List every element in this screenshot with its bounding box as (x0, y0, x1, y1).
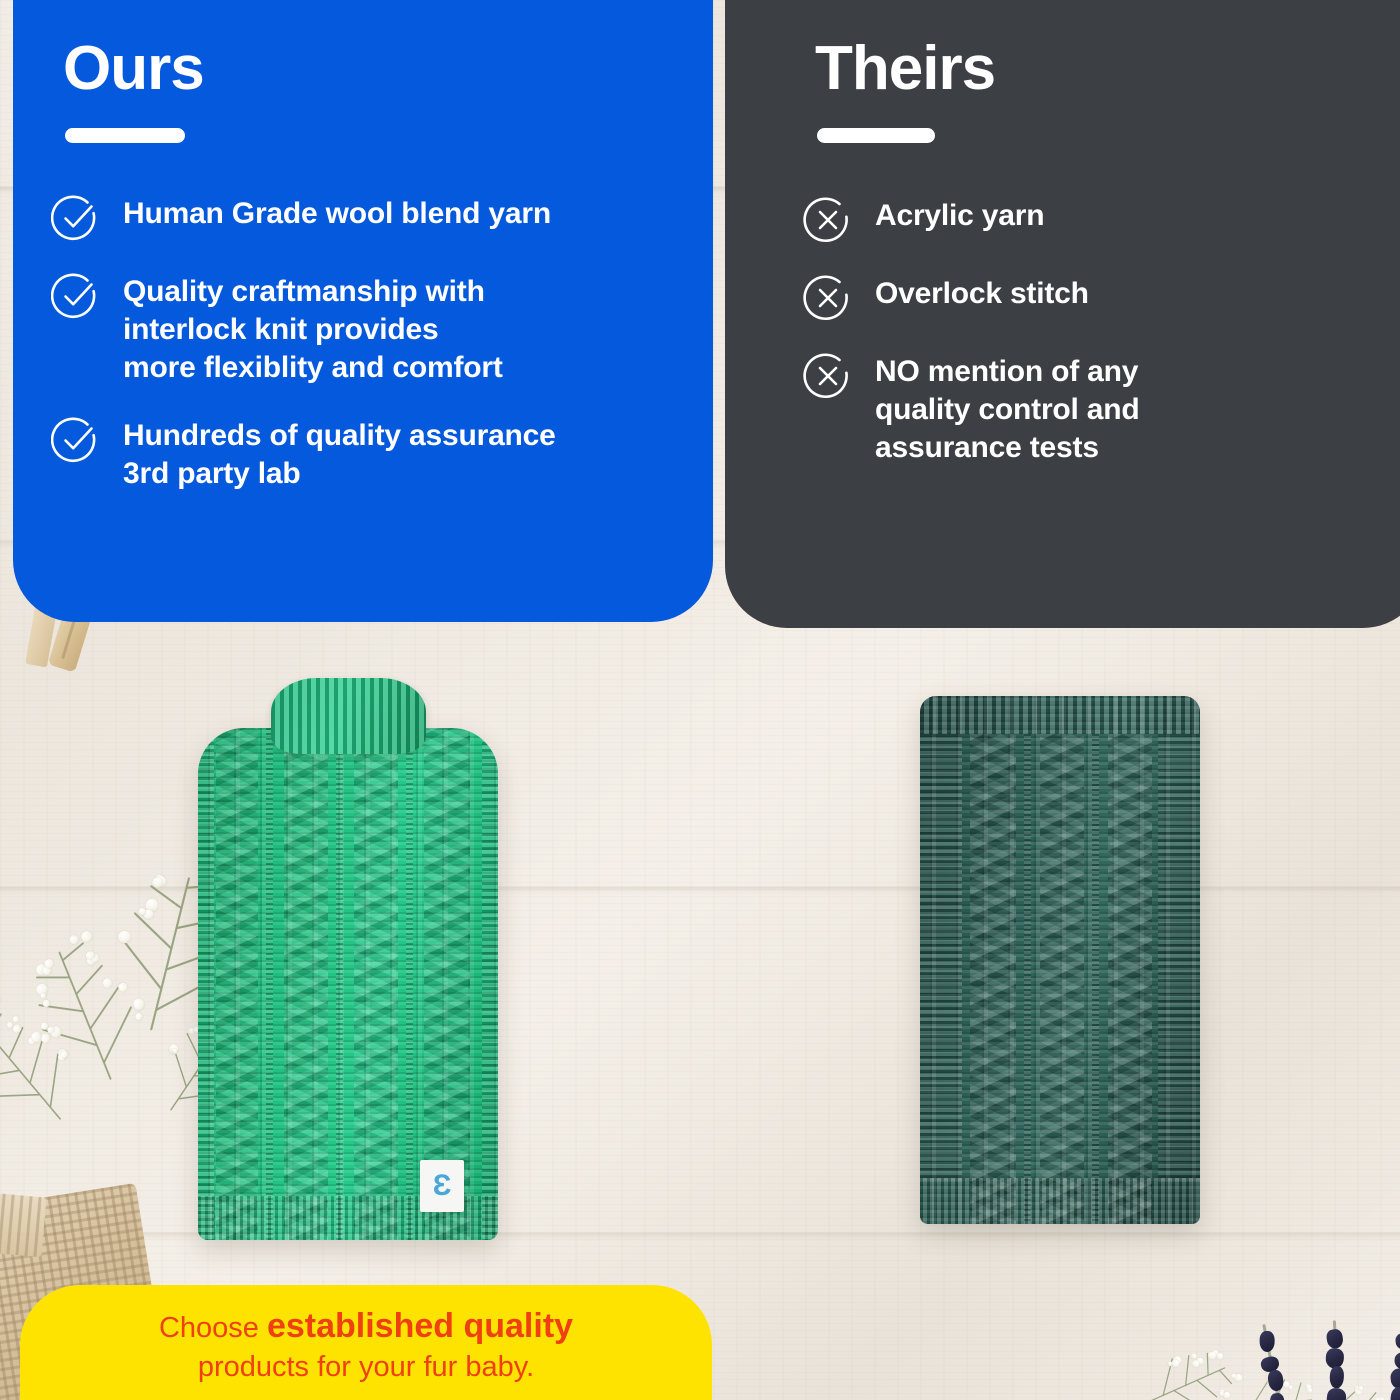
x-circle-icon (803, 273, 853, 323)
theirs-panel-title: Theirs (815, 38, 1391, 100)
ours-panel-title: Ours (63, 38, 679, 100)
theirs-feature-list: Acrylic yarn Overlock stitch (803, 193, 1391, 467)
list-item-label: Human Grade wool blend yarn (123, 191, 551, 233)
ours-panel: Ours Human Grade wool blend yarn (13, 0, 713, 622)
ours-product-image: Ɛ (198, 670, 498, 1240)
theirs-title-underline (817, 128, 935, 143)
list-item: Human Grade wool blend yarn (51, 191, 679, 243)
list-item-label: NO mention of any quality control and as… (875, 349, 1140, 467)
list-item: NO mention of any quality control and as… (803, 349, 1391, 467)
list-item: Quality craftmanship with interlock knit… (51, 269, 679, 387)
brand-logo-icon: Ɛ (433, 1171, 452, 1201)
theirs-panel: Theirs Acrylic yarn (725, 0, 1400, 628)
sweater-body (920, 696, 1200, 1224)
x-circle-icon (803, 351, 853, 401)
ours-title-underline (65, 128, 185, 143)
list-item: Acrylic yarn (803, 193, 1391, 245)
babys-breath-flowers-bottom (1060, 1240, 1380, 1400)
comparison-infographic: Ɛ Ours (0, 0, 1400, 1400)
ours-feature-list: Human Grade wool blend yarn Quality craf… (51, 191, 679, 493)
list-item: Hundreds of quality assurance 3rd party … (51, 413, 679, 493)
check-circle-icon (51, 415, 101, 465)
promo-lead-text: Choose (159, 1312, 259, 1344)
promo-banner: Choose established quality products for … (20, 1285, 712, 1400)
sweater-collar (271, 678, 426, 754)
list-item-label: Hundreds of quality assurance 3rd party … (123, 413, 556, 493)
babys-breath-flowers-left (0, 700, 230, 1130)
list-item: Overlock stitch (803, 271, 1391, 323)
list-item-label: Overlock stitch (875, 271, 1089, 313)
list-item-label: Quality craftmanship with interlock knit… (123, 269, 503, 387)
list-item-label: Acrylic yarn (875, 193, 1044, 235)
brand-tag: Ɛ (420, 1160, 464, 1212)
promo-line-1: Choose established quality (159, 1305, 573, 1349)
check-circle-icon (51, 271, 101, 321)
dried-lavender-decor (1250, 990, 1400, 1320)
x-circle-icon (803, 195, 853, 245)
promo-line-2: products for your fur baby. (198, 1349, 534, 1386)
check-circle-icon (51, 193, 101, 243)
promo-strong-text: established quality (267, 1307, 573, 1345)
theirs-product-image (920, 696, 1200, 1224)
